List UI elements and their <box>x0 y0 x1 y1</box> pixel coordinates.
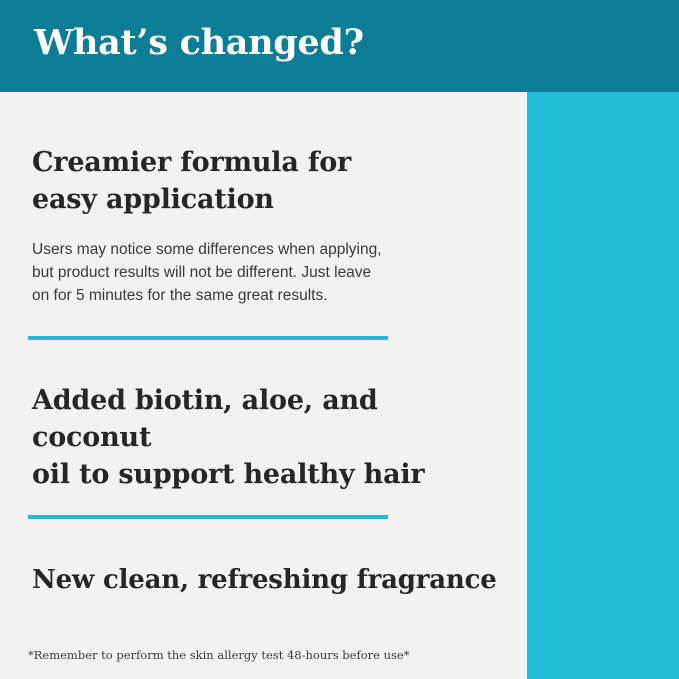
section-1-body-line-1: Users may notice some differences when a… <box>32 238 487 261</box>
page-title: What’s changed? <box>34 21 364 65</box>
section-1-heading-line-2: easy application <box>32 181 502 218</box>
section-2-heading: Added biotin, aloe, and coconut oil to s… <box>32 382 502 493</box>
footnote: *Remember to perform the skin allergy te… <box>28 647 498 663</box>
section-1-heading-line-1: Creamier formula for <box>32 144 502 181</box>
divider-1 <box>28 336 388 340</box>
section-3-heading: New clean, refreshing fragrance <box>32 562 502 598</box>
right-accent-panel <box>527 0 679 679</box>
content-column: Creamier formula for easy application Us… <box>0 92 527 679</box>
section-2-heading-line-1: Added biotin, aloe, and coconut <box>32 382 502 456</box>
promo-card: What’s changed? Creamier formula for eas… <box>0 0 679 679</box>
section-1-heading: Creamier formula for easy application <box>32 144 502 218</box>
divider-2 <box>28 515 388 519</box>
section-1-body: Users may notice some differences when a… <box>32 238 487 307</box>
header-band: What’s changed? <box>0 0 679 92</box>
section-3-heading-line-1: New clean, refreshing fragrance <box>32 562 502 598</box>
section-2-heading-line-2: oil to support healthy hair <box>32 456 502 493</box>
section-1-body-line-3: on for 5 minutes for the same great resu… <box>32 284 487 307</box>
section-1-body-line-2: but product results will not be differen… <box>32 261 487 284</box>
